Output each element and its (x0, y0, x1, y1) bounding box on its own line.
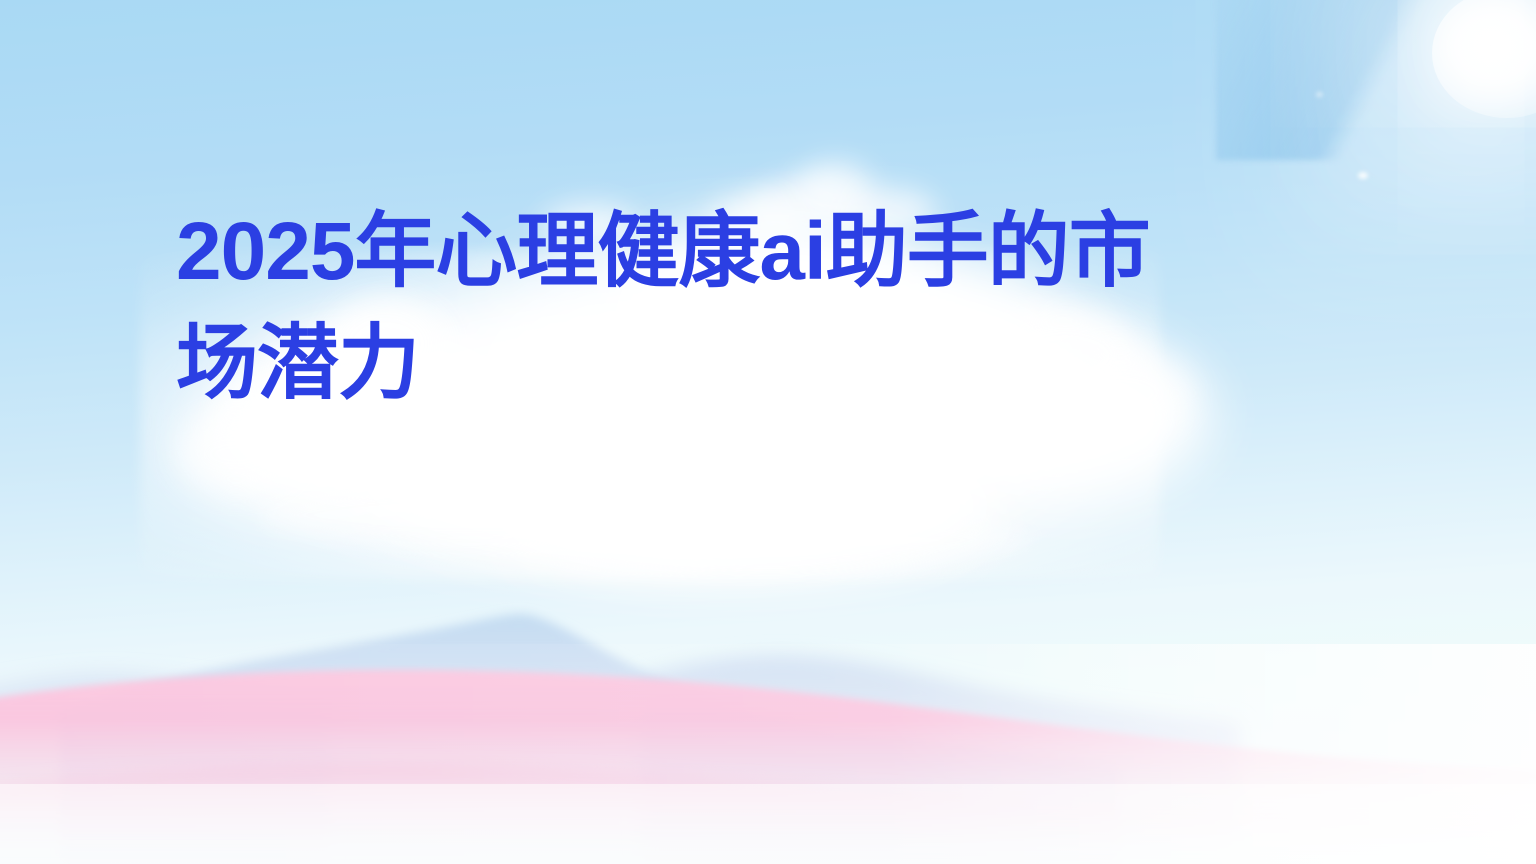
pink-foreground (0, 644, 1536, 864)
lens-flare-fleck (1316, 92, 1323, 97)
pink-bottom-fade (0, 784, 1536, 864)
cloud-puff (176, 416, 296, 492)
cloud-wisp (510, 510, 1030, 570)
slide-title: 2025年心理健康ai助手的市场潜力 (176, 196, 1226, 420)
lens-flare-fleck (1358, 172, 1368, 179)
slide-canvas: 2025年心理健康ai助手的市场潜力 (0, 0, 1536, 864)
title-block: 2025年心理健康ai助手的市场潜力 (176, 196, 1226, 420)
